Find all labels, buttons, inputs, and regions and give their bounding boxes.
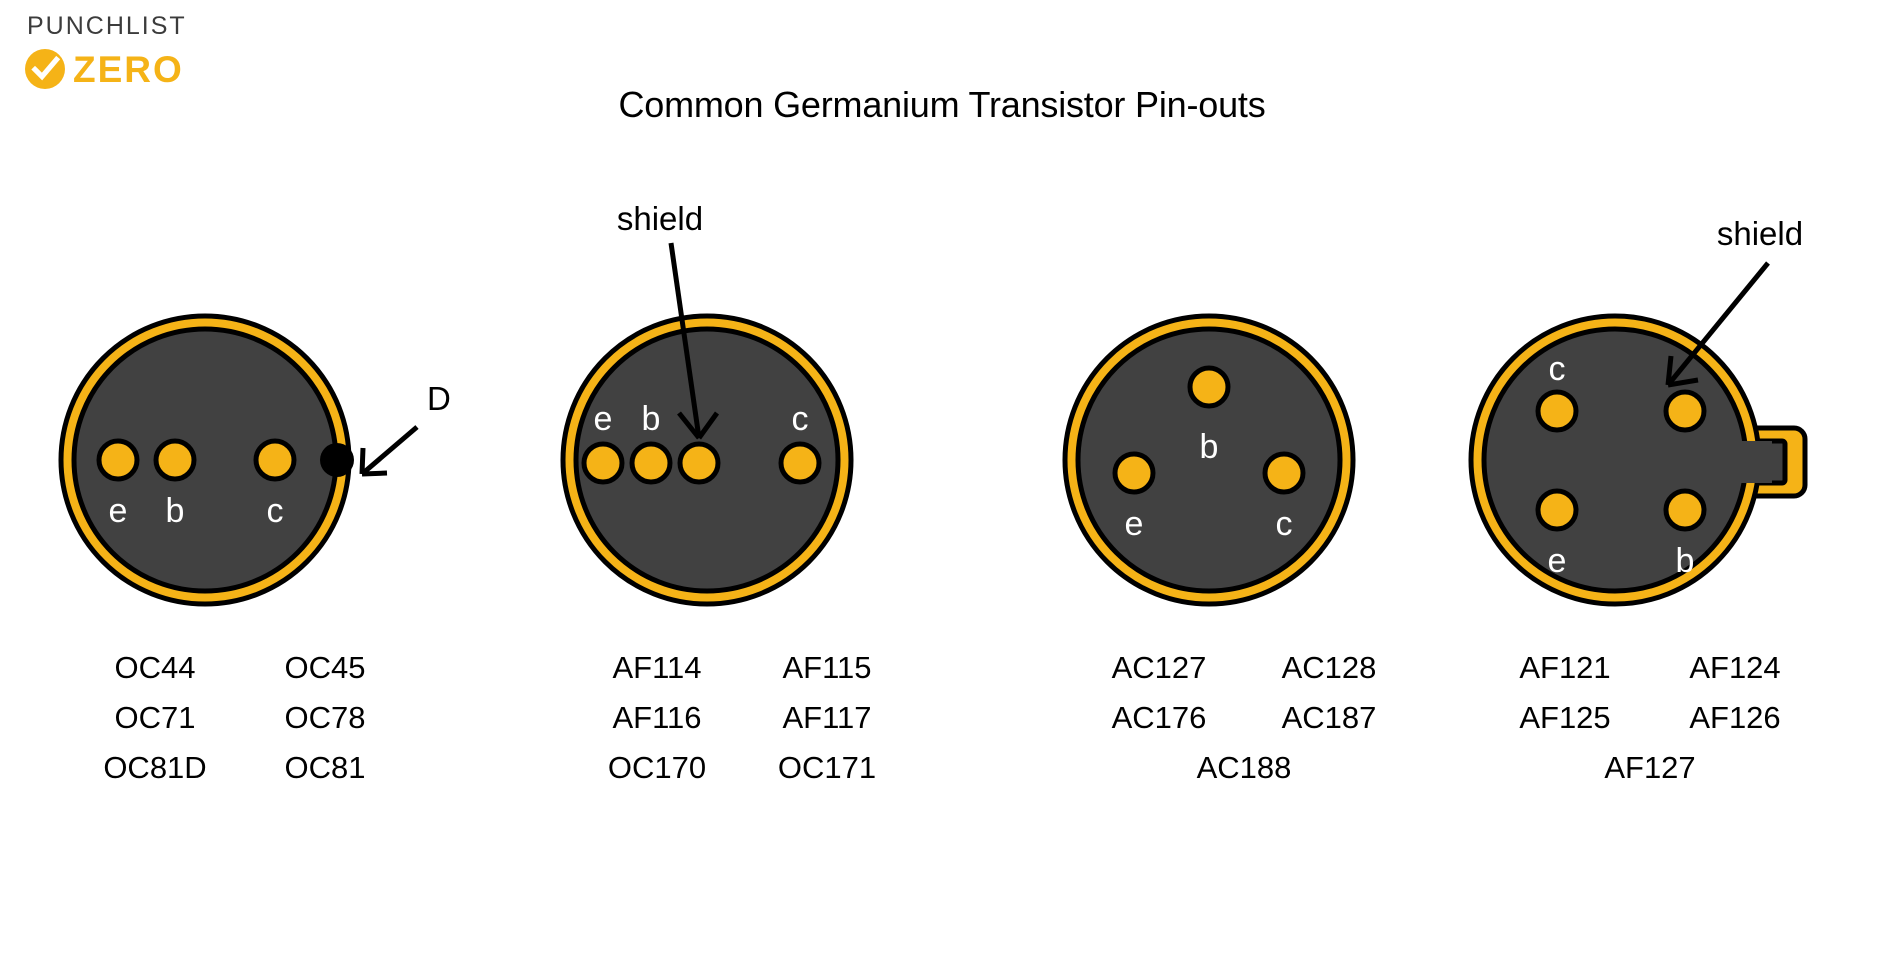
- pin-c: [256, 441, 294, 479]
- part-row: OC44 OC45: [30, 650, 450, 686]
- package-oc44: e b c Dot OC44 OC45 OC71 OC78 OC81D OC81: [30, 200, 450, 900]
- pin-e: [1538, 491, 1576, 529]
- dot-annotation-arrow: [362, 427, 417, 474]
- pin-label-b: b: [1676, 542, 1695, 580]
- pin-shield: [1666, 392, 1704, 430]
- part-number: AF124: [1650, 650, 1820, 686]
- part-number: OC170: [572, 750, 742, 786]
- package-af121-diagram: c e b shield: [1440, 200, 1860, 640]
- part-number: AF126: [1650, 700, 1820, 736]
- package-oc44-diagram: e b c Dot: [30, 200, 450, 640]
- pin-b: [632, 444, 670, 482]
- package-ac127: b e c AC127 AC128 AC176 AC187 AC188: [1034, 200, 1454, 900]
- pin-c: [1538, 392, 1576, 430]
- pin-b: [1666, 491, 1704, 529]
- pin-label-c: c: [1549, 350, 1566, 388]
- package-oc44-part-list: OC44 OC45 OC71 OC78 OC81D OC81: [30, 650, 450, 800]
- pin-label-e: e: [594, 400, 613, 438]
- logo-wordmark-zero: ZERO: [73, 51, 184, 88]
- part-row: OC170 OC171: [532, 750, 952, 786]
- pin-b: [1190, 368, 1228, 406]
- pin-e: [99, 441, 137, 479]
- part-number: AC128: [1244, 650, 1414, 686]
- tab-inner-join: [1702, 441, 1772, 483]
- pin-label-c: c: [792, 400, 809, 438]
- part-number: AF121: [1480, 650, 1650, 686]
- pin-b: [156, 441, 194, 479]
- package-ac127-part-list: AC127 AC128 AC176 AC187 AC188: [1034, 650, 1454, 800]
- part-row: AC188: [1034, 750, 1454, 786]
- pin-e: [1115, 454, 1153, 492]
- part-number: OC81D: [70, 750, 240, 786]
- pin-label-c: c: [1276, 505, 1293, 543]
- part-number: OC45: [240, 650, 410, 686]
- part-number: AF117: [742, 700, 912, 736]
- part-row: AF127: [1440, 750, 1860, 786]
- part-number: AF114: [572, 650, 742, 686]
- part-row: AC176 AC187: [1034, 700, 1454, 736]
- package-ac127-diagram: b e c: [1034, 200, 1454, 640]
- pin-shield: [680, 444, 718, 482]
- pin-c: [781, 444, 819, 482]
- orientation-dot: [320, 443, 354, 477]
- shield-annotation-label: shield: [617, 200, 703, 237]
- part-row: AF114 AF115: [532, 650, 952, 686]
- part-number: AF125: [1480, 700, 1650, 736]
- part-row: AC127 AC128: [1034, 650, 1454, 686]
- package-af121: c e b shield AF121 AF124 AF125 AF126 AF1…: [1440, 200, 1860, 900]
- part-number: OC81: [240, 750, 410, 786]
- package-af114-diagram: e b c shield: [532, 200, 952, 640]
- part-row: AF125 AF126: [1440, 700, 1860, 736]
- part-row: AF121 AF124: [1440, 650, 1860, 686]
- part-number: AF115: [742, 650, 912, 686]
- part-number: OC78: [240, 700, 410, 736]
- part-row: OC81D OC81: [30, 750, 450, 786]
- part-row: OC71 OC78: [30, 700, 450, 736]
- pin-label-e: e: [109, 492, 128, 530]
- pin-label-e: e: [1548, 542, 1567, 580]
- part-number: OC44: [70, 650, 240, 686]
- dot-annotation-label: Dot: [427, 380, 450, 417]
- part-number: OC71: [70, 700, 240, 736]
- shield-annotation-label: shield: [1717, 215, 1803, 252]
- pin-label-b: b: [642, 400, 661, 438]
- package-af114: e b c shield AF114 AF115 AF116 AF117 OC1…: [532, 200, 952, 900]
- pin-label-e: e: [1125, 505, 1144, 543]
- part-row: AF116 AF117: [532, 700, 952, 736]
- package-af114-part-list: AF114 AF115 AF116 AF117 OC170 OC171: [532, 650, 952, 800]
- pin-e: [584, 444, 622, 482]
- part-number: AF127: [1480, 750, 1820, 786]
- part-number: AC187: [1244, 700, 1414, 736]
- part-number: AC176: [1074, 700, 1244, 736]
- pin-c: [1265, 454, 1303, 492]
- page-title: Common Germanium Transistor Pin-outs: [0, 84, 1884, 126]
- package-af121-part-list: AF121 AF124 AF125 AF126 AF127: [1440, 650, 1860, 800]
- pin-label-c: c: [267, 492, 284, 530]
- logo-wordmark-punchlist: PUNCHLIST: [24, 14, 234, 39]
- part-number: AC127: [1074, 650, 1244, 686]
- pin-label-b: b: [166, 492, 185, 530]
- part-number: OC171: [742, 750, 912, 786]
- part-number: AF116: [572, 700, 742, 736]
- part-number: AC188: [1074, 750, 1414, 786]
- pin-label-b: b: [1200, 428, 1219, 466]
